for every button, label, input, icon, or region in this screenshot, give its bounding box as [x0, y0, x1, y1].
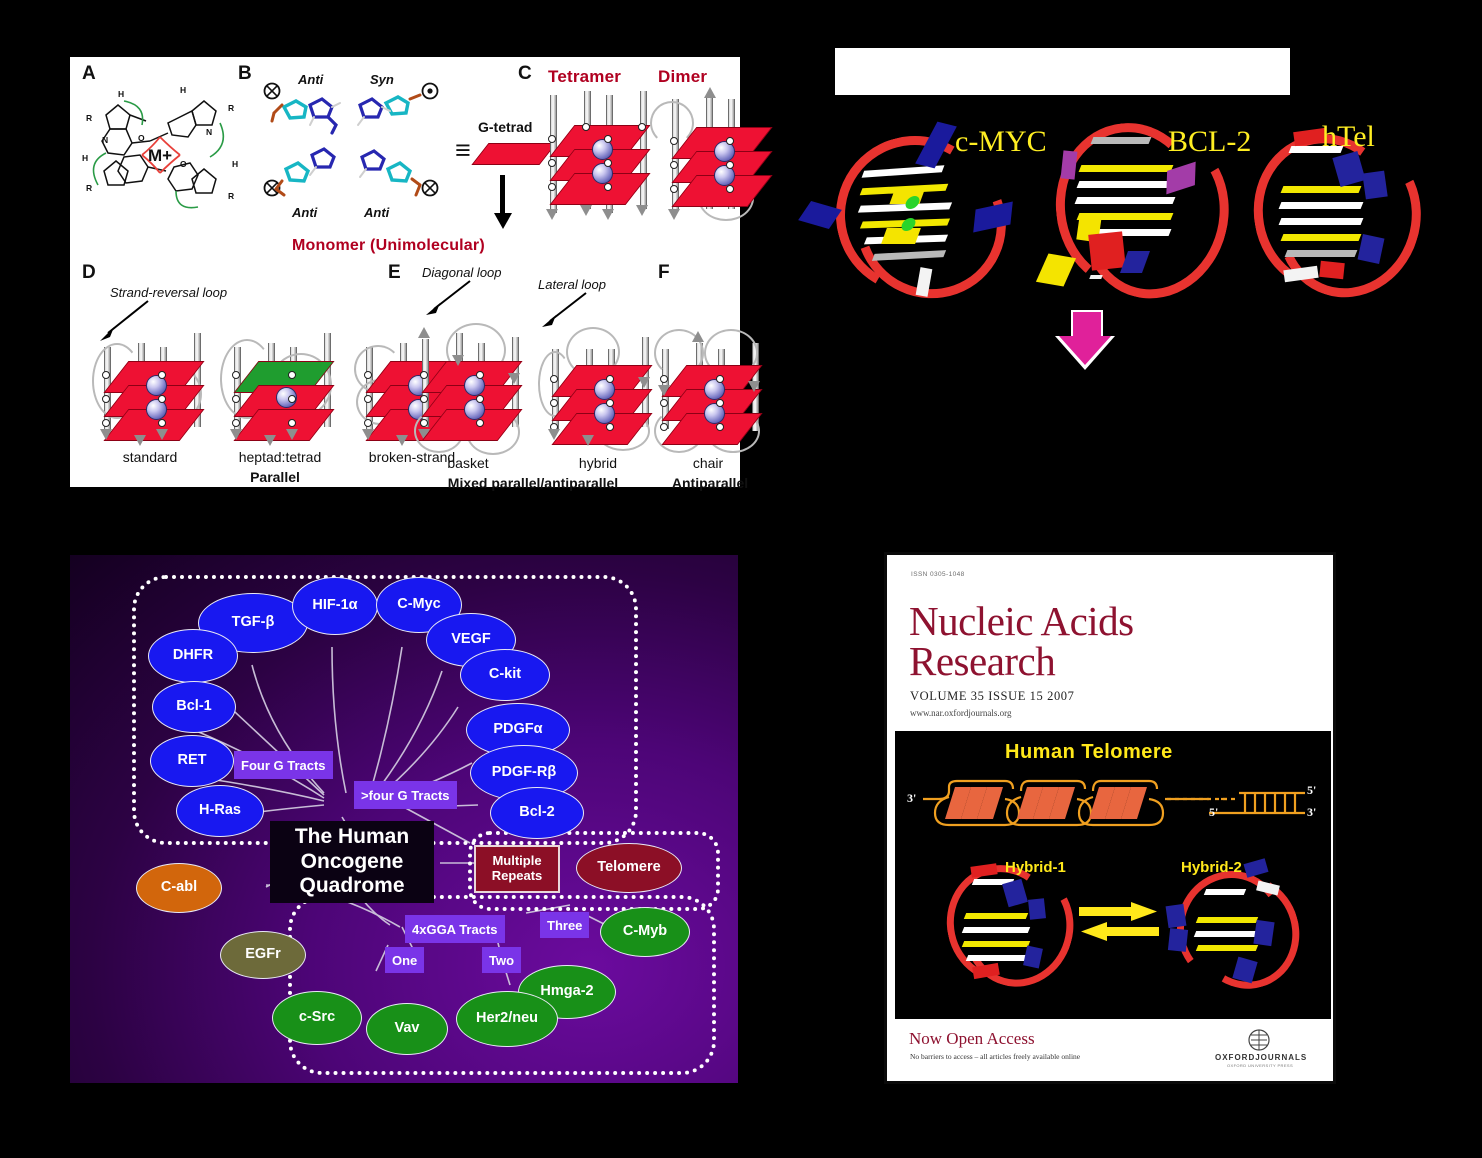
cmyc-structure [818, 120, 1028, 310]
node-vav[interactable]: Vav [366, 1003, 448, 1055]
publisher-subtitle: OXFORD UNIVERSITY PRESS [1227, 1063, 1293, 1068]
glycosidic-label-anti-2: Anti [292, 205, 317, 220]
node-telomere[interactable]: Telomere [576, 843, 682, 893]
cover-url: www.nar.oxfordjournals.org [910, 708, 1011, 718]
tetramer-heading: Tetramer [548, 67, 621, 87]
tag-label: Two [489, 953, 514, 968]
tag-one[interactable]: One [385, 947, 424, 973]
node-label: VEGF [451, 632, 490, 647]
cover-art-title: Human Telomere [1005, 741, 1173, 764]
cover-title-line1: Nucleic Acids [909, 601, 1134, 641]
node-label: c-Src [299, 1010, 335, 1025]
node-label: RET [178, 753, 207, 768]
panel-letter-d: D [82, 262, 96, 284]
bcl2-structure [1048, 115, 1248, 315]
tag-label: 4xGGA Tracts [412, 922, 498, 937]
footer-subtitle: No barriers to access – all articles fre… [910, 1052, 1080, 1061]
node-label: DHFR [173, 648, 213, 663]
node-label: Hmga-2 [540, 984, 593, 999]
caption-heptad-tetrad: heptad:tetrad [220, 449, 340, 465]
node-label: Her2/neu [476, 1011, 538, 1026]
node-label: PDGF-Rβ [492, 765, 556, 780]
center-title-line1: The Human [295, 825, 409, 850]
svg-text:H: H [82, 153, 88, 163]
svg-text:H: H [232, 159, 238, 169]
dimer-structure [650, 91, 770, 221]
node-c-src[interactable]: c-Src [272, 991, 362, 1045]
monomer-label: Monomer (Unimolecular) [292, 237, 485, 255]
label-htel: hTel [1322, 120, 1375, 154]
cover-footer: Now Open Access No barriers to access – … [895, 1025, 1331, 1073]
node-label: PDGFα [493, 722, 542, 737]
svg-text:N: N [102, 135, 108, 145]
svg-text:O: O [138, 133, 145, 143]
tag-two[interactable]: Two [482, 947, 521, 973]
node-her2-neu[interactable]: Her2/neu [456, 991, 558, 1047]
node-label: Vav [395, 1021, 420, 1036]
label-hybrid-2: Hybrid-2 [1181, 859, 1242, 876]
glycosidic-label-anti-3: Anti [364, 205, 389, 220]
caption-hybrid: hybrid [538, 455, 658, 471]
svg-text:R: R [86, 183, 92, 193]
node-label: C-Myc [397, 597, 441, 612]
strand-reversal-loop-annotation: Strand-reversal loop [110, 285, 227, 300]
quadruplex-hybrid [538, 325, 658, 455]
tag-label: One [392, 953, 417, 968]
lateral-loop-annotation: Lateral loop [538, 277, 606, 292]
strand-label-3prime-left: 3' [907, 791, 916, 806]
hybrid2-structure [1171, 859, 1301, 989]
node-bcl-2[interactable]: Bcl-2 [490, 787, 584, 839]
strand-label-5prime-lower: 5' [1209, 805, 1218, 820]
tag-gga-tracts[interactable]: 4xGGA Tracts [405, 915, 505, 943]
node-bcl-1[interactable]: Bcl-1 [152, 681, 236, 733]
svg-text:R: R [228, 191, 234, 201]
center-title-line3: Quadrome [295, 874, 409, 899]
tag-label: Three [547, 918, 582, 933]
node-label: HIF-1α [312, 598, 357, 613]
panel-letter-c: C [518, 63, 532, 85]
group-label-parallel: Parallel [210, 469, 340, 485]
svg-text:N: N [206, 127, 212, 137]
panel-letter-b: B [238, 63, 252, 85]
node-h-ras[interactable]: H-Ras [176, 785, 264, 837]
telomere-schematic: 3' 5' 5' 3' [909, 779, 1317, 835]
svg-text:R: R [228, 103, 234, 113]
node-label: Bcl-1 [176, 699, 211, 714]
svg-text:R: R [86, 113, 92, 123]
arrow-down-shaft [500, 175, 505, 215]
node-dhfr[interactable]: DHFR [148, 629, 238, 683]
node-label: C-abl [161, 880, 197, 895]
strand-label-3prime-right: 3' [1307, 805, 1316, 820]
label-hybrid-1: Hybrid-1 [1005, 859, 1066, 876]
node-label: C-Myb [623, 924, 667, 939]
strand-label-5prime-right: 5' [1307, 783, 1316, 798]
footer-title: Now Open Access [909, 1029, 1035, 1049]
svg-text:O: O [180, 159, 187, 169]
structures-white-caption-box [835, 48, 1290, 95]
panel-letter-e: E [388, 262, 401, 284]
oxford-crest-icon [1247, 1029, 1271, 1051]
caption-basket: basket [408, 455, 528, 471]
label-bcl2: BCL-2 [1168, 125, 1251, 159]
journal-cover-inner: ISSN 0305-1048 Nucleic Acids Research VO… [895, 563, 1325, 1073]
quadruplex-heptad-tetrad [220, 329, 340, 449]
svg-text:H: H [118, 89, 124, 99]
svg-text:H: H [180, 85, 186, 95]
tag-four-g-tracts[interactable]: Four G Tracts [234, 751, 333, 779]
publisher-name: OXFORDJOURNALS [1215, 1053, 1307, 1062]
tetramer-structure [540, 91, 660, 221]
down-arrow [1055, 310, 1117, 372]
node-c-myb[interactable]: C-Myb [600, 907, 690, 957]
node-label: C-kit [489, 667, 521, 682]
cover-artwork: Human Telomere [895, 731, 1331, 1019]
tag-label: >four G Tracts [361, 788, 450, 803]
node-label: H-Ras [199, 803, 241, 818]
node-ret[interactable]: RET [150, 735, 234, 787]
panel-letter-f: F [658, 262, 670, 284]
node-c-abl[interactable]: C-abl [136, 863, 222, 913]
quadruplex-chair [648, 325, 768, 455]
group-label-mixed: Mixed parallel/antiparallel [408, 475, 658, 491]
node-c-kit[interactable]: C-kit [460, 649, 550, 701]
center-title-line2: Oncogene [295, 850, 409, 875]
g-tetrad-label: G-tetrad [478, 119, 532, 135]
hybrid1-structure [943, 857, 1073, 987]
caption-standard: standard [90, 449, 210, 465]
cover-issn: ISSN 0305-1048 [911, 571, 965, 578]
node-label: Telomere [597, 860, 660, 875]
quadruplex-basket [408, 325, 528, 455]
diagonal-loop-annotation: Diagonal loop [422, 265, 502, 280]
quadruplex-standard [90, 329, 210, 449]
center-title-box: The Human Oncogene Quadrome [270, 821, 434, 903]
tag-more-than-four-g-tracts[interactable]: >four G Tracts [354, 781, 457, 809]
tag-label: Four G Tracts [241, 758, 326, 773]
journal-cover-panel: ISSN 0305-1048 Nucleic Acids Research VO… [884, 552, 1336, 1084]
node-label: TGF-β [232, 615, 275, 630]
cover-title-line2: Research [909, 641, 1055, 681]
annotation-arrow-e2 [538, 291, 590, 329]
htel-structure [1248, 120, 1438, 310]
g-tetrad-chemical-structure: RR RR HH NN OO HH M+ [80, 75, 240, 235]
caption-chair: chair [648, 455, 768, 471]
dimer-heading: Dimer [658, 67, 707, 87]
node-label: EGFr [245, 947, 280, 962]
oncogene-quadrome-panel: TGF-β HIF-1α C-Myc VEGF C-kit DHFR Bcl-1… [70, 555, 738, 1083]
annotation-arrow-e1 [422, 279, 474, 317]
metal-ion-label: M+ [148, 146, 172, 165]
node-egfr[interactable]: EGFr [220, 931, 306, 979]
tag-three[interactable]: Three [540, 912, 589, 938]
gquadruplex-figure-panel: A [70, 57, 740, 487]
label-cmyc: c-MYC [955, 125, 1047, 159]
node-label: Bcl-2 [519, 805, 554, 820]
equilibrium-arrows [1077, 901, 1161, 945]
box-multiple-repeats[interactable]: Multiple Repeats [474, 845, 560, 893]
box-label: Multiple Repeats [476, 854, 558, 883]
arrow-down-head [494, 213, 512, 229]
cover-volume-line: VOLUME 35 ISSUE 15 2007 [910, 689, 1075, 704]
node-hif-1a[interactable]: HIF-1α [292, 577, 378, 635]
equivalence-symbol: ≡ [455, 135, 471, 166]
nucleoside-models [270, 85, 440, 205]
group-label-antiparallel: Antiparallel [640, 475, 780, 491]
